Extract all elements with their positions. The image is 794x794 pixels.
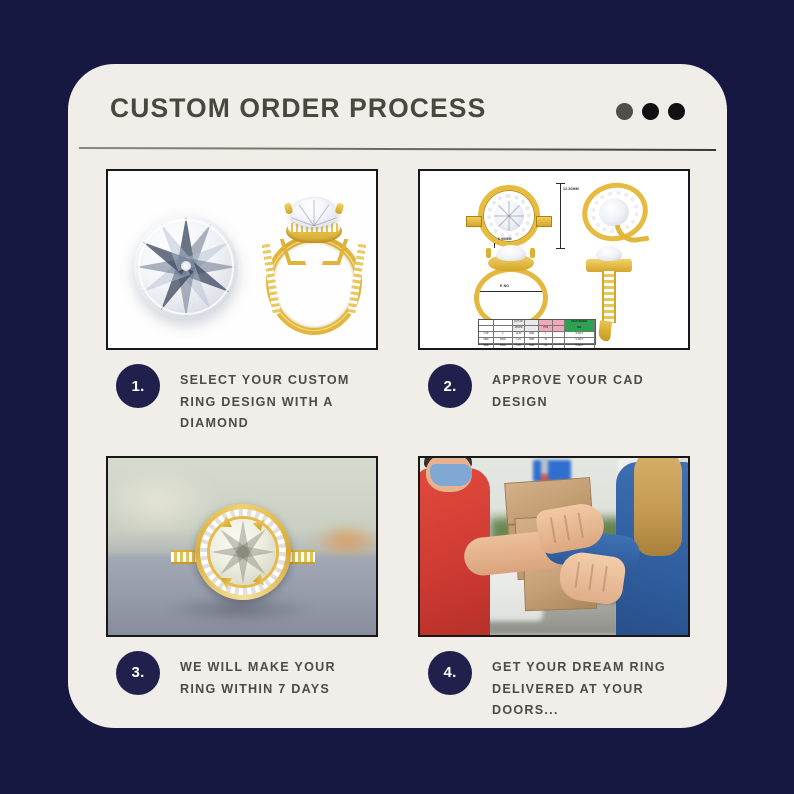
window-dot-muted-icon[interactable] bbox=[616, 103, 633, 120]
step-item-1[interactable]: 1. SELECT YOUR CUSTOM RING DESIGN WITH A… bbox=[106, 169, 378, 435]
cad-table-row: SIDE PAVE 1.00 RND 28 0.28CT bbox=[479, 344, 595, 350]
window-dot-dark-icon-1[interactable] bbox=[642, 103, 659, 120]
cad-dimension-label-height: 12.20MM bbox=[563, 187, 579, 191]
step-4-caption: 4. GET YOUR DREAM RING DELIVERED AT YOUR… bbox=[418, 651, 690, 722]
step-item-4[interactable]: 4. GET YOUR DREAM RING DELIVERED AT YOUR… bbox=[418, 456, 690, 722]
gold-halo-ring-top-view-icon bbox=[187, 502, 299, 620]
cad-width-tick bbox=[494, 243, 495, 248]
steps-grid: 1. SELECT YOUR CUSTOM RING DESIGN WITH A… bbox=[106, 169, 690, 722]
card-header: CUSTOM ORDER PROCESS bbox=[68, 64, 727, 148]
cad-inner-diameter-line bbox=[480, 291, 542, 292]
window-dots bbox=[616, 103, 685, 120]
step-3-image-finished-ring bbox=[106, 456, 378, 637]
face-mask-icon bbox=[430, 464, 472, 486]
step-2-image-cad-design: 12.20MM 6.00MM bbox=[418, 169, 690, 350]
step-4-label: GET YOUR DREAM RING DELIVERED AT YOUR DO… bbox=[492, 651, 682, 722]
gold-halo-ring-profile-icon bbox=[258, 189, 370, 337]
cad-dimension-label-size: E NO bbox=[500, 284, 509, 288]
cad-specification-table: OUT OF GOLD WEIGHT SHAPE PCS bbox=[478, 319, 596, 345]
cad-dimension-label-width: 6.00MM bbox=[498, 237, 512, 241]
cad-side-view-ring-icon bbox=[474, 243, 548, 329]
step-2-label: APPROVE YOUR CAD DESIGN bbox=[492, 364, 682, 413]
step-3-label: WE WILL MAKE YOUR RING WITHIN 7 DAYS bbox=[180, 651, 370, 700]
cad-dimension-tick-top bbox=[556, 183, 565, 184]
header-divider bbox=[79, 147, 716, 151]
window-dot-dark-icon-2[interactable] bbox=[668, 103, 685, 120]
step-2-badge: 2. bbox=[428, 364, 472, 408]
step-1-badge: 1. bbox=[116, 364, 160, 408]
step-item-2[interactable]: 12.20MM 6.00MM bbox=[418, 169, 690, 435]
step-2-caption: 2. APPROVE YOUR CAD DESIGN bbox=[418, 364, 690, 413]
cad-dimension-tick-bottom bbox=[556, 248, 565, 249]
loose-round-diamond-icon bbox=[134, 215, 238, 319]
delivery-handoff-photo bbox=[420, 458, 688, 635]
cad-drawing-sheet: 12.20MM 6.00MM bbox=[420, 171, 688, 348]
step-3-badge: 3. bbox=[116, 651, 160, 695]
cad-vertical-dimension-line bbox=[560, 183, 561, 249]
customer-hair bbox=[634, 458, 682, 556]
step-item-3[interactable]: 3. WE WILL MAKE YOUR RING WITHIN 7 DAYS bbox=[106, 456, 378, 722]
step-4-image-delivery-handoff bbox=[418, 456, 690, 637]
finished-ring-photo bbox=[108, 458, 376, 635]
step-1-image-diamond-and-ring bbox=[106, 169, 378, 350]
step-1-label: SELECT YOUR CUSTOM RING DESIGN WITH A DI… bbox=[180, 364, 370, 435]
step-3-caption: 3. WE WILL MAKE YOUR RING WITHIN 7 DAYS bbox=[106, 651, 378, 700]
step-1-caption: 1. SELECT YOUR CUSTOM RING DESIGN WITH A… bbox=[106, 364, 378, 435]
custom-order-process-card: CUSTOM ORDER PROCESS bbox=[68, 64, 727, 728]
cad-perspective-shank bbox=[615, 221, 649, 245]
step-4-badge: 4. bbox=[428, 651, 472, 695]
page-title: CUSTOM ORDER PROCESS bbox=[110, 93, 486, 124]
